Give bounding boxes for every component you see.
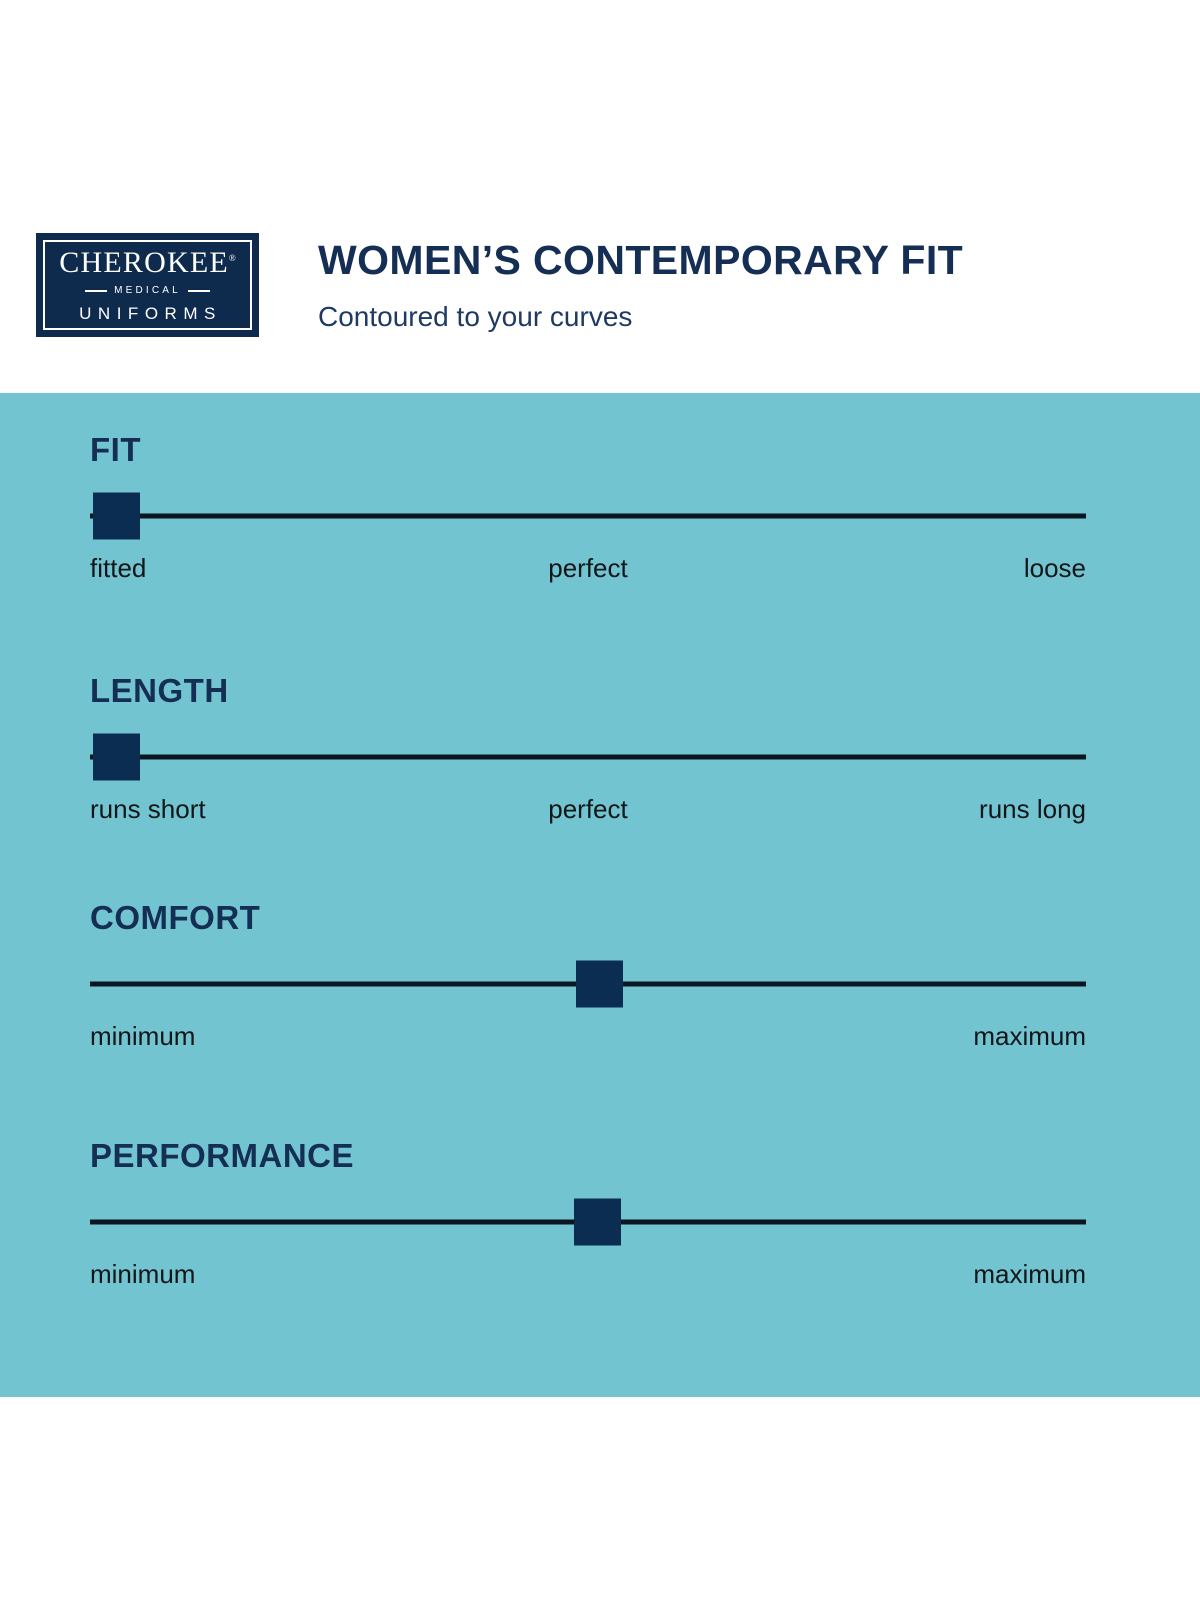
scale-performance-label-left: minimum bbox=[90, 1261, 195, 1287]
scale-length: LENGTH runs short perfect runs long bbox=[90, 674, 1086, 830]
logo-medical-row: MEDICAL bbox=[45, 286, 250, 296]
scale-length-label-center: perfect bbox=[548, 796, 628, 822]
logo-brand-name: CHEROKEE® bbox=[59, 248, 235, 278]
scale-fit-label-center: perfect bbox=[548, 555, 628, 581]
scale-fit-labels: fitted perfect loose bbox=[90, 555, 1086, 589]
scale-comfort-labels: minimum maximum bbox=[90, 1023, 1086, 1057]
scale-comfort-label-left: minimum bbox=[90, 1023, 195, 1049]
scale-performance-labels: minimum maximum bbox=[90, 1261, 1086, 1295]
logo-brand-text: CHEROKEE bbox=[59, 246, 229, 279]
scale-length-track[interactable] bbox=[90, 733, 1086, 781]
fit-guide-page: CHEROKEE® MEDICAL UNIFORMS WOMEN’S CONTE… bbox=[0, 0, 1200, 1600]
scale-length-label-left: runs short bbox=[90, 796, 206, 822]
page-title: WOMEN’S CONTEMPORARY FIT bbox=[318, 240, 963, 281]
logo-rule-left-icon bbox=[85, 290, 107, 292]
scale-fit-label-left: fitted bbox=[90, 555, 146, 581]
cherokee-logo: CHEROKEE® MEDICAL UNIFORMS bbox=[36, 233, 259, 337]
page-subtitle: Contoured to your curves bbox=[318, 303, 963, 331]
scale-comfort-handle[interactable] bbox=[576, 961, 623, 1008]
scale-performance-label-right: maximum bbox=[973, 1261, 1086, 1287]
logo-rule-right-icon bbox=[188, 290, 210, 292]
scale-comfort: COMFORT minimum maximum bbox=[90, 901, 1086, 1057]
header: CHEROKEE® MEDICAL UNIFORMS WOMEN’S CONTE… bbox=[0, 0, 1200, 393]
scale-performance-track[interactable] bbox=[90, 1198, 1086, 1246]
scale-length-label-right: runs long bbox=[979, 796, 1086, 822]
scale-fit-label-right: loose bbox=[1024, 555, 1086, 581]
scale-performance-handle[interactable] bbox=[574, 1199, 621, 1246]
title-block: WOMEN’S CONTEMPORARY FIT Contoured to yo… bbox=[318, 240, 963, 331]
scale-fit-handle[interactable] bbox=[93, 493, 140, 540]
registered-trademark-icon: ® bbox=[229, 253, 236, 263]
scale-length-track-line bbox=[90, 755, 1086, 760]
logo-inner-border: CHEROKEE® MEDICAL UNIFORMS bbox=[43, 240, 252, 330]
scales-panel: FIT fitted perfect loose LENGTH runs sho… bbox=[0, 393, 1200, 1397]
scale-performance-heading: PERFORMANCE bbox=[90, 1139, 1086, 1172]
scale-comfort-label-right: maximum bbox=[973, 1023, 1086, 1049]
scale-fit: FIT fitted perfect loose bbox=[90, 433, 1086, 589]
scale-fit-track[interactable] bbox=[90, 492, 1086, 540]
logo-uniforms-text: UNIFORMS bbox=[73, 305, 222, 322]
scale-comfort-track[interactable] bbox=[90, 960, 1086, 1008]
scale-fit-track-line bbox=[90, 514, 1086, 519]
logo-medical-text: MEDICAL bbox=[114, 286, 181, 296]
scale-length-labels: runs short perfect runs long bbox=[90, 796, 1086, 830]
scale-performance: PERFORMANCE minimum maximum bbox=[90, 1139, 1086, 1295]
scale-fit-heading: FIT bbox=[90, 433, 1086, 466]
scale-length-handle[interactable] bbox=[93, 734, 140, 781]
scale-comfort-heading: COMFORT bbox=[90, 901, 1086, 934]
scale-length-heading: LENGTH bbox=[90, 674, 1086, 707]
